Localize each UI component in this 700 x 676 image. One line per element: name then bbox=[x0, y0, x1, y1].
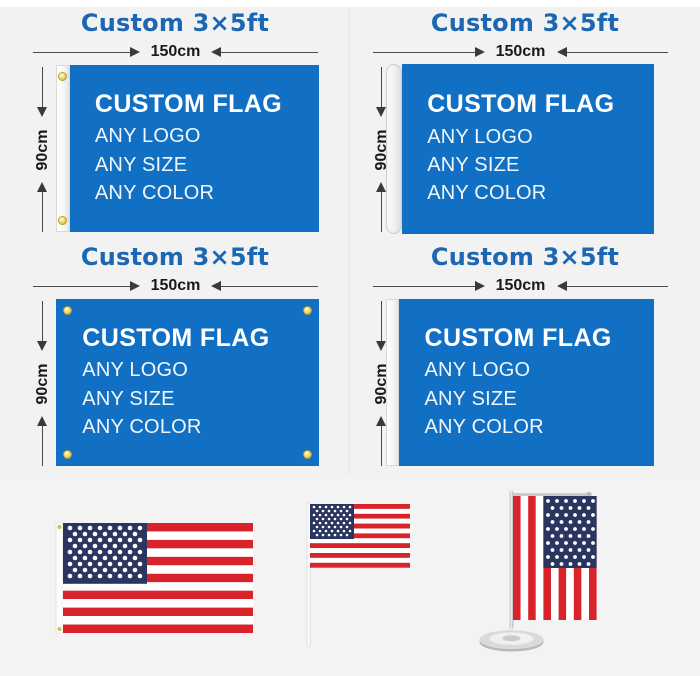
dim-rule-right bbox=[559, 286, 668, 287]
spec-panel-plain-hem-flag[interactable]: Custom 3×5ft 150cm 90cm CU bbox=[350, 241, 700, 475]
flag-headline: CUSTOM FLAG bbox=[425, 324, 655, 354]
photo-usa-flag-handheld[interactable] bbox=[290, 475, 465, 676]
flag-text-block: CUSTOM FLAG ANY LOGO ANY SIZE ANY COLOR bbox=[70, 65, 319, 232]
spec-panel-grommet-flag[interactable]: Custom 3×5ft 150cm 90cm bbox=[0, 7, 350, 241]
flag-line-1: ANY LOGO bbox=[95, 122, 319, 150]
usa-flag-desk-stand-illustration bbox=[465, 475, 700, 676]
panel-title: Custom 3×5ft bbox=[350, 243, 700, 271]
flag-line-2: ANY SIZE bbox=[427, 151, 654, 179]
width-dimension: 150cm bbox=[33, 275, 318, 297]
flag-text-block: CUSTOM FLAG ANY LOGO ANY SIZE ANY COLOR bbox=[56, 299, 319, 466]
grommet-bottom bbox=[58, 216, 67, 225]
vdim-arrow-down-icon bbox=[376, 107, 386, 117]
flag-headline: CUSTOM FLAG bbox=[95, 90, 319, 120]
panel-title: Custom 3×5ft bbox=[0, 9, 350, 37]
width-dimension: 150cm bbox=[373, 41, 668, 63]
product-spec-page: Custom 3×5ft 150cm 90cm bbox=[0, 0, 700, 676]
vdim-arrow-up-icon bbox=[37, 416, 47, 426]
dim-arrow-right-icon bbox=[475, 281, 485, 291]
vdim-arrow-down-icon bbox=[37, 341, 47, 351]
flag-line-3: ANY COLOR bbox=[95, 179, 319, 207]
vdim-arrow-up-icon bbox=[376, 416, 386, 426]
height-label: 90cm bbox=[34, 360, 52, 407]
panel-title: Custom 3×5ft bbox=[350, 9, 700, 37]
dim-arrow-left-icon bbox=[557, 281, 567, 291]
flag-line-1: ANY LOGO bbox=[82, 356, 319, 384]
flag-body: CUSTOM FLAG ANY LOGO ANY SIZE ANY COLOR bbox=[56, 299, 319, 466]
grommet-bottom-left bbox=[63, 450, 72, 459]
flag-text-block: CUSTOM FLAG ANY LOGO ANY SIZE ANY COLOR bbox=[402, 64, 654, 234]
panel-title-text: Custom 3×5ft bbox=[431, 243, 619, 271]
panel-title: Custom 3×5ft bbox=[0, 243, 350, 271]
panel-title-text: Custom 3×5ft bbox=[81, 9, 269, 37]
spec-panel-four-corner-grommet-flag[interactable]: Custom 3×5ft 150cm 90cm CUSTOM FLAG bbox=[0, 241, 350, 475]
usa-flag-handheld-illustration bbox=[290, 475, 465, 676]
flag-hem bbox=[56, 65, 70, 232]
spec-grid: Custom 3×5ft 150cm 90cm bbox=[0, 7, 700, 475]
flag-pole-sleeve bbox=[386, 64, 402, 234]
vdim-arrow-down-icon bbox=[376, 341, 386, 351]
dim-arrow-left-icon bbox=[211, 47, 221, 57]
dim-rule-left bbox=[33, 52, 138, 53]
grommet-top-left bbox=[63, 306, 72, 315]
vdim-arrow-down-icon bbox=[37, 107, 47, 117]
flag-line-1: ANY LOGO bbox=[425, 356, 655, 384]
flag-graphic[interactable]: CUSTOM FLAG ANY LOGO ANY SIZE ANY COLOR bbox=[56, 299, 319, 466]
dim-arrow-right-icon bbox=[130, 47, 140, 57]
dim-arrow-left-icon bbox=[211, 281, 221, 291]
flag-line-3: ANY COLOR bbox=[82, 413, 319, 441]
flag-line-2: ANY SIZE bbox=[82, 385, 319, 413]
dim-rule-left bbox=[373, 52, 483, 53]
dim-rule-left bbox=[33, 286, 138, 287]
dim-rule-right bbox=[213, 52, 318, 53]
height-dimension: 90cm bbox=[31, 67, 55, 232]
flag-graphic[interactable]: CUSTOM FLAG ANY LOGO ANY SIZE ANY COLOR bbox=[386, 299, 654, 466]
width-label: 150cm bbox=[147, 275, 205, 297]
width-label: 150cm bbox=[147, 41, 205, 63]
flag-text-block: CUSTOM FLAG ANY LOGO ANY SIZE ANY COLOR bbox=[399, 299, 654, 466]
flag-body: CUSTOM FLAG ANY LOGO ANY SIZE ANY COLOR bbox=[402, 64, 654, 234]
flag-line-2: ANY SIZE bbox=[95, 151, 319, 179]
height-dimension: 90cm bbox=[31, 301, 55, 466]
panel-title-text: Custom 3×5ft bbox=[431, 9, 619, 37]
flag-hem bbox=[386, 299, 399, 466]
photo-usa-flag-desk-stand[interactable] bbox=[465, 475, 700, 676]
usa-flag-grommet-illustration bbox=[0, 475, 290, 676]
flag-graphic[interactable]: CUSTOM FLAG ANY LOGO ANY SIZE ANY COLOR bbox=[56, 65, 319, 232]
vdim-rule-bottom bbox=[42, 186, 43, 232]
height-label: 90cm bbox=[34, 126, 52, 173]
width-dimension: 150cm bbox=[373, 275, 668, 297]
dim-rule-left bbox=[373, 286, 483, 287]
grommet-bottom-right bbox=[303, 450, 312, 459]
width-label: 150cm bbox=[492, 275, 550, 297]
panel-title-text: Custom 3×5ft bbox=[81, 243, 269, 271]
dim-rule-right bbox=[559, 52, 668, 53]
flag-line-2: ANY SIZE bbox=[425, 385, 655, 413]
product-photo-strip bbox=[0, 475, 700, 676]
flag-headline: CUSTOM FLAG bbox=[427, 90, 654, 120]
vdim-rule-bottom bbox=[381, 186, 382, 232]
vdim-rule-bottom bbox=[381, 420, 382, 466]
flag-body: CUSTOM FLAG ANY LOGO ANY SIZE ANY COLOR bbox=[70, 65, 319, 232]
dim-rule-right bbox=[213, 286, 318, 287]
flag-line-3: ANY COLOR bbox=[427, 179, 654, 207]
dim-arrow-right-icon bbox=[130, 281, 140, 291]
flag-headline: CUSTOM FLAG bbox=[82, 324, 319, 354]
dim-arrow-right-icon bbox=[475, 47, 485, 57]
vdim-rule-bottom bbox=[42, 420, 43, 466]
width-dimension: 150cm bbox=[33, 41, 318, 63]
photo-usa-flag-grommet[interactable] bbox=[0, 475, 290, 676]
flag-body: CUSTOM FLAG ANY LOGO ANY SIZE ANY COLOR bbox=[399, 299, 654, 466]
vdim-arrow-up-icon bbox=[37, 182, 47, 192]
spec-panel-pole-sleeve-flag[interactable]: Custom 3×5ft 150cm 90cm CU bbox=[350, 7, 700, 241]
flag-line-3: ANY COLOR bbox=[425, 413, 655, 441]
flag-graphic[interactable]: CUSTOM FLAG ANY LOGO ANY SIZE ANY COLOR bbox=[386, 64, 654, 234]
width-label: 150cm bbox=[492, 41, 550, 63]
top-white-band bbox=[0, 0, 700, 7]
dim-arrow-left-icon bbox=[557, 47, 567, 57]
grommet-top-right bbox=[303, 306, 312, 315]
flag-line-1: ANY LOGO bbox=[427, 123, 654, 151]
grommet-top bbox=[58, 72, 67, 81]
vdim-arrow-up-icon bbox=[376, 182, 386, 192]
